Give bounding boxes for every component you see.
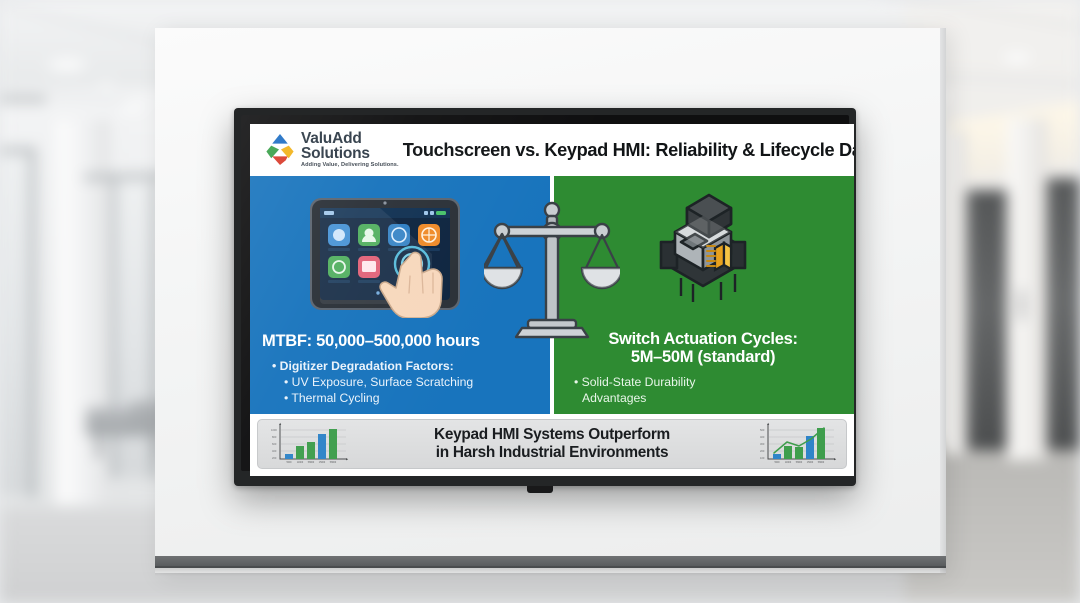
svg-text:15000: 15000 bbox=[319, 462, 326, 464]
svg-text:58000: 58000 bbox=[818, 462, 825, 464]
balance-scale-icon bbox=[484, 196, 620, 348]
wall-mounted-display[interactable]: ValuAdd Solutions Adding Value, Deliveri… bbox=[234, 108, 856, 486]
downlight bbox=[1000, 52, 1034, 64]
logo-name-line2: Solutions bbox=[301, 146, 399, 162]
svg-text:15000: 15000 bbox=[807, 462, 814, 464]
footer-banner: 1000800 600400200 bbox=[257, 419, 847, 469]
slide-header: ValuAdd Solutions Adding Value, Deliveri… bbox=[250, 124, 854, 176]
logo-tagline: Adding Value, Delivering Solutions. bbox=[301, 163, 399, 169]
list-item: • UV Exposure, Surface Scratching bbox=[262, 374, 540, 390]
svg-text:400: 400 bbox=[760, 435, 765, 439]
footer-text-line1: Keypad HMI Systems Outperform bbox=[350, 426, 754, 444]
svg-text:5000: 5000 bbox=[286, 462, 292, 464]
downlight bbox=[116, 103, 146, 113]
list-item: • Solid-State Durability bbox=[564, 374, 842, 390]
elevator-door-gap bbox=[988, 190, 990, 450]
svg-text:600: 600 bbox=[272, 442, 277, 446]
svg-text:200: 200 bbox=[760, 449, 765, 453]
presentation-slide: ValuAdd Solutions Adding Value, Deliveri… bbox=[250, 124, 854, 476]
footer-banner-text: Keypad HMI Systems Outperform in Harsh I… bbox=[350, 426, 754, 463]
ceiling-slot bbox=[0, 96, 46, 103]
logo-wordmark: ValuAdd Solutions Adding Value, Deliveri… bbox=[301, 131, 399, 169]
footer-chart-right: 500400 300200100 bbox=[754, 422, 838, 466]
right-bullet-list: • Solid-State Durability Advantages bbox=[564, 374, 842, 406]
svg-text:100: 100 bbox=[760, 456, 765, 460]
valuadd-logo-icon bbox=[264, 133, 296, 167]
svg-text:500: 500 bbox=[760, 428, 765, 432]
window-pane bbox=[0, 150, 34, 495]
footer-chart-left: 1000800 600400200 bbox=[266, 422, 350, 466]
list-item: Advantages bbox=[564, 390, 842, 406]
pillar bbox=[1007, 118, 1047, 460]
company-logo[interactable]: ValuAdd Solutions Adding Value, Deliveri… bbox=[264, 131, 399, 169]
mechanical-key-switch-icon bbox=[637, 186, 769, 318]
svg-text:58000: 58000 bbox=[308, 462, 315, 464]
downlight bbox=[96, 80, 116, 88]
wall-edge bbox=[940, 28, 946, 573]
svg-text:11900: 11900 bbox=[785, 462, 792, 464]
window-mullion bbox=[30, 148, 35, 498]
slide-body: MTBF: 50,000–500,000 hours • Digitizer D… bbox=[250, 176, 854, 414]
door-handle bbox=[1019, 290, 1024, 320]
slide-title: Touchscreen vs. Keypad HMI: Reliability … bbox=[399, 140, 854, 161]
svg-text:58000: 58000 bbox=[330, 462, 337, 464]
svg-text:5000: 5000 bbox=[774, 462, 780, 464]
svg-text:58000: 58000 bbox=[796, 462, 803, 464]
downlight bbox=[44, 58, 90, 72]
svg-text:800: 800 bbox=[272, 435, 277, 439]
list-item: • Digitizer Degradation Factors: bbox=[262, 358, 540, 374]
svg-text:11900: 11900 bbox=[297, 462, 304, 464]
tv-ir-sensor bbox=[527, 486, 553, 493]
svg-text:200: 200 bbox=[272, 456, 277, 460]
pillar bbox=[943, 130, 967, 454]
slide-footer: 1000800 600400200 bbox=[250, 414, 854, 476]
footer-text-line2: in Harsh Industrial Environments bbox=[350, 444, 754, 462]
svg-text:400: 400 bbox=[272, 449, 277, 453]
screenshot-stage: ValuAdd Solutions Adding Value, Deliveri… bbox=[0, 0, 1080, 603]
svg-text:1000: 1000 bbox=[271, 428, 277, 432]
wall-floor-shadow bbox=[155, 566, 946, 576]
touchscreen-tablet-icon bbox=[302, 194, 492, 318]
right-headline-line2: 5M–50M (standard) bbox=[564, 348, 842, 366]
window-head-rail bbox=[0, 148, 34, 153]
elevator-door bbox=[1042, 178, 1080, 450]
svg-text:300: 300 bbox=[760, 442, 765, 446]
display-screen: ValuAdd Solutions Adding Value, Deliveri… bbox=[241, 115, 849, 471]
bench-leg bbox=[96, 434, 101, 458]
left-bullet-list: • Digitizer Degradation Factors: • UV Ex… bbox=[262, 358, 540, 406]
list-item: • Thermal Cycling bbox=[262, 390, 540, 406]
